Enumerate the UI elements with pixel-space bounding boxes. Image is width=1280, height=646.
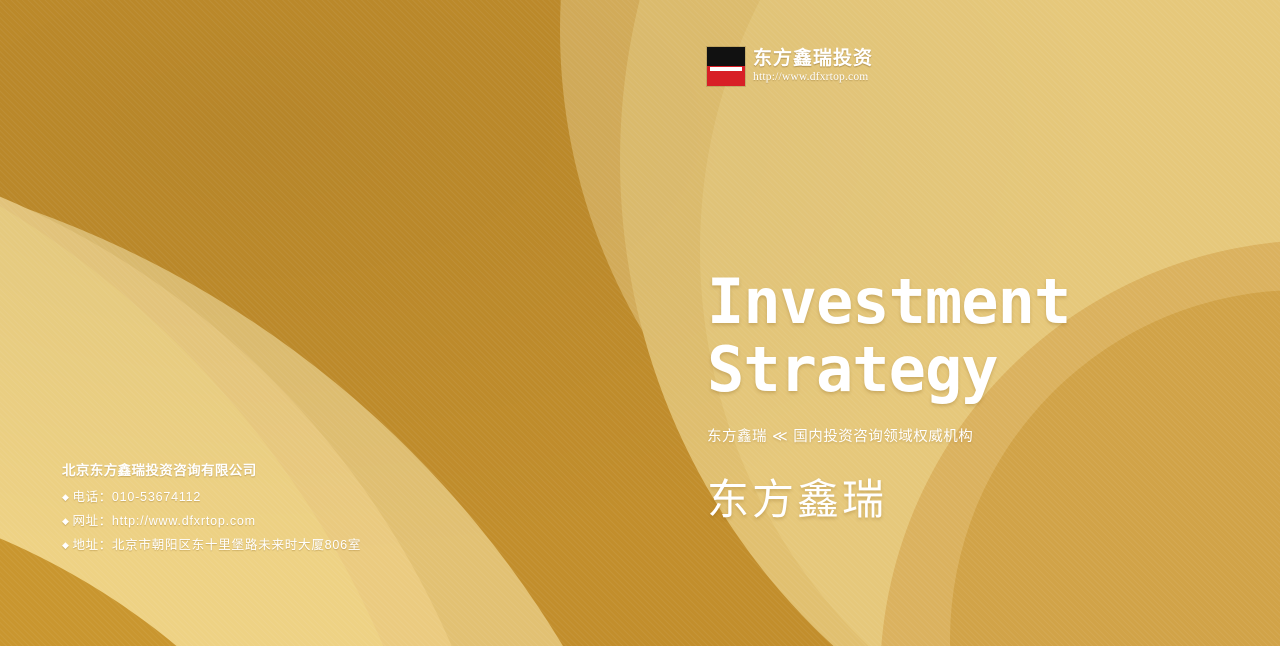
hero-brand-large: 东方鑫瑞 <box>707 466 1227 527</box>
contact-website-value[interactable]: http://www.dfxrtop.com <box>112 514 256 528</box>
contact-address-value: 北京市朝阳区东十里堡路未来时大厦806室 <box>112 534 361 553</box>
hero-subtitle-tagline: 国内投资咨询领域权威机构 <box>793 429 973 445</box>
contact-row-address: ◆ 地址： 北京市朝阳区东十里堡路未来时大厦806室 <box>62 534 361 553</box>
double-angle-bracket-icon: ≪ <box>772 428 788 445</box>
contact-address-label: 地址： <box>73 534 112 553</box>
diamond-bullet-icon: ◆ <box>62 541 70 550</box>
logo-website-url: http://www.dfxrtop.com <box>753 72 873 84</box>
contact-website-label: 网址： <box>73 510 112 529</box>
contact-row-website: ◆ 网址： http://www.dfxrtop.com <box>62 510 361 529</box>
logo-text-group: 东方鑫瑞投资 http://www.dfxrtop.com <box>753 49 873 84</box>
logo-company-name: 东方鑫瑞投资 <box>753 49 873 68</box>
logo-black-band <box>707 47 745 66</box>
hero-subtitle-brand: 东方鑫瑞 <box>707 429 767 445</box>
contact-company-name: 北京东方鑫瑞投资咨询有限公司 <box>62 459 361 479</box>
logo-white-bar <box>710 67 742 71</box>
contact-phone-value: 010-53674112 <box>112 490 201 504</box>
flag-square-logo-icon <box>707 47 745 86</box>
contact-info-block: 北京东方鑫瑞投资咨询有限公司 ◆ 电话： 010-53674112 ◆ 网址： … <box>62 459 361 558</box>
hero-section: Investment Strategy 东方鑫瑞≪国内投资咨询领域权威机构 东方… <box>707 272 1227 527</box>
hero-title-line-2: Strategy <box>707 340 1227 400</box>
hero-subtitle: 东方鑫瑞≪国内投资咨询领域权威机构 <box>707 425 1227 446</box>
diamond-bullet-icon: ◆ <box>62 493 70 502</box>
brochure-cover-page: 东方鑫瑞投资 http://www.dfxrtop.com Investment… <box>0 0 1280 646</box>
hero-title-line-1: Investment <box>707 272 1227 332</box>
contact-phone-label: 电话： <box>73 486 112 505</box>
company-logo: 东方鑫瑞投资 http://www.dfxrtop.com <box>707 47 873 86</box>
contact-row-phone: ◆ 电话： 010-53674112 <box>62 486 361 505</box>
diamond-bullet-icon: ◆ <box>62 517 70 526</box>
